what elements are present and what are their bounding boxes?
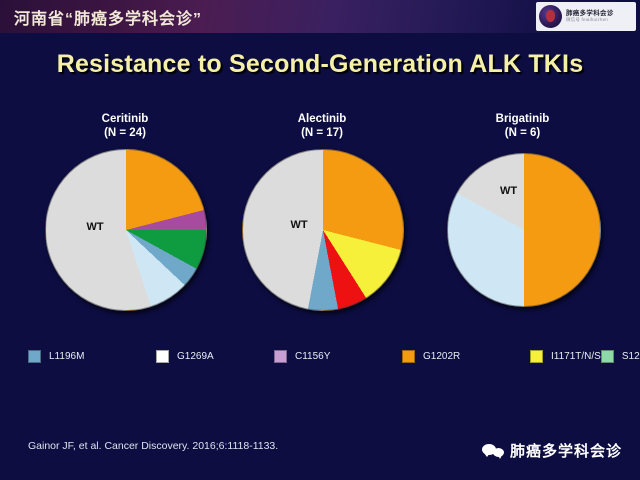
legend-swatch <box>28 350 41 363</box>
chart-panel-alectinib: Alectinib (N = 17) WT <box>222 112 422 309</box>
chart-title-text: Ceritinib <box>102 113 149 125</box>
chart-subtitle-text: (N = 6) <box>505 127 540 139</box>
chart-title-text: Brigatinib <box>496 113 550 125</box>
pie-chart-ceritinib <box>45 149 207 311</box>
logo-text: 肺癌多学科会诊 微信号 feiaihuizhen <box>566 10 614 23</box>
wechat-icon <box>482 443 504 459</box>
legend-label: L1196M <box>49 351 84 362</box>
pie-wrap-brigatinib: WT <box>447 153 599 305</box>
chart-title-text: Alectinib <box>298 113 347 125</box>
legend-label: S1206Y <box>622 351 640 362</box>
legend-swatch <box>402 350 415 363</box>
footer-brand-text: 肺癌多学科会诊 <box>510 440 622 461</box>
chart-panel-brigatinib: Brigatinib (N = 6) WT <box>430 112 615 305</box>
legend-item[interactable]: L1196M <box>28 350 156 363</box>
page-title: Resistance to Second-Generation ALK TKIs <box>0 50 640 79</box>
legend-item[interactable]: C1156Y <box>274 350 402 363</box>
footer-brand: 肺癌多学科会诊 <box>482 440 622 461</box>
slide-root: 河南省“肺癌多学科会诊” 肺癌多学科会诊 微信号 feiaihuizhen Re… <box>0 0 640 480</box>
chart-subtitle-text: (N = 24) <box>104 127 146 139</box>
legend: L1196MG1269AC1156YG1202RI1171T/N/SS1206Y… <box>28 345 618 367</box>
citation: Gainor JF, et al. Cancer Discovery. 2016… <box>28 440 278 452</box>
legend-label: I1171T/N/S <box>551 351 601 362</box>
legend-label: G1202R <box>423 351 460 362</box>
legend-item[interactable]: I1171T/N/S <box>530 350 601 363</box>
pie-chart-alectinib <box>242 149 404 311</box>
legend-swatch <box>530 350 543 363</box>
top-banner: 河南省“肺癌多学科会诊” 肺癌多学科会诊 微信号 feiaihuizhen <box>0 0 640 33</box>
pie-wrap-alectinib: WT <box>242 149 402 309</box>
chart-subtitle-text: (N = 17) <box>301 127 343 139</box>
chart-title-ceritinib: Ceritinib (N = 24) <box>25 112 225 141</box>
chart-title-alectinib: Alectinib (N = 17) <box>222 112 422 141</box>
lung-logo-icon <box>539 5 562 28</box>
banner-title: 河南省“肺癌多学科会诊” <box>14 5 202 29</box>
legend-label: G1269A <box>177 351 214 362</box>
pie-wrap-ceritinib: WT <box>45 149 205 309</box>
legend-label: C1156Y <box>295 351 330 362</box>
pie-chart-brigatinib <box>447 153 601 307</box>
legend-item[interactable]: S1206Y <box>601 350 640 363</box>
legend-swatch <box>156 350 169 363</box>
legend-item[interactable]: G1202R <box>402 350 530 363</box>
chart-title-brigatinib: Brigatinib (N = 6) <box>430 112 615 141</box>
brand-logo: 肺癌多学科会诊 微信号 feiaihuizhen <box>536 2 636 31</box>
legend-swatch <box>274 350 287 363</box>
legend-item[interactable]: G1269A <box>156 350 274 363</box>
chart-panel-ceritinib: Ceritinib (N = 24) WT <box>25 112 225 309</box>
logo-subtitle: 微信号 feiaihuizhen <box>566 18 614 23</box>
legend-swatch <box>601 350 614 363</box>
